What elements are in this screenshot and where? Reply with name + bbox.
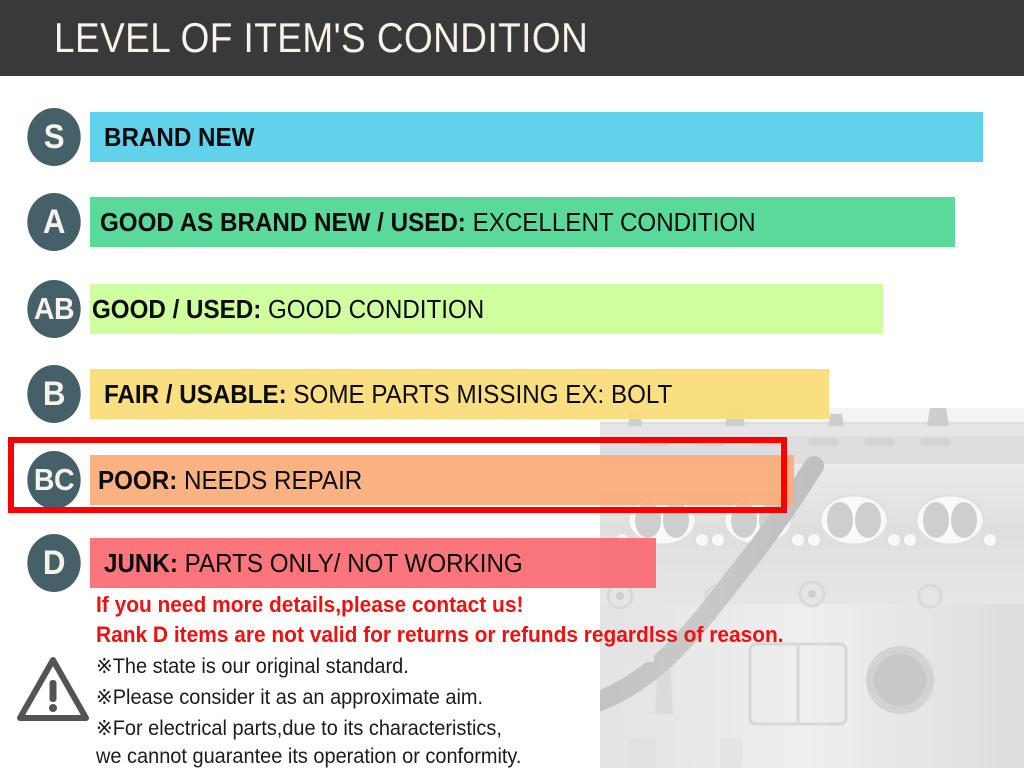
bc-rank-highlight-box — [8, 437, 787, 513]
footer-note-2: ※Please consider it as an approximate ai… — [96, 685, 483, 710]
condition-label-detail: EXCELLENT CONDITION — [466, 207, 756, 237]
condition-level-infographic: LEVEL OF ITEM'S CONDITION SBRAND NEWAGOO… — [0, 0, 1024, 768]
rank-badge-b: B — [27, 365, 80, 423]
rank-badge-ab: AB — [27, 280, 80, 338]
condition-label-detail: GOOD CONDITION — [261, 294, 484, 324]
condition-label-ab: GOOD / USED: GOOD CONDITION — [92, 293, 484, 325]
condition-label-detail: PARTS ONLY/ NOT WORKING — [178, 548, 523, 578]
condition-label-bold: BRAND NEW — [104, 122, 254, 152]
footer-note-3: ※For electrical parts,due to its charact… — [96, 716, 502, 741]
page-title: LEVEL OF ITEM'S CONDITION — [54, 14, 588, 62]
condition-label-bold: FAIR / USABLE: — [104, 379, 287, 409]
condition-label-detail: SOME PARTS MISSING EX: BOLT — [287, 379, 673, 409]
rank-badge-s: S — [27, 108, 80, 166]
condition-label-d: JUNK: PARTS ONLY/ NOT WORKING — [104, 547, 523, 579]
header-bar: LEVEL OF ITEM'S CONDITION — [0, 0, 1024, 76]
footer-warning-line-1: If you need more details,please contact … — [96, 592, 523, 618]
condition-label-a: GOOD AS BRAND NEW / USED: EXCELLENT COND… — [100, 206, 756, 238]
rank-badge-a: A — [27, 193, 80, 251]
footer-note-4: we cannot guarantee its operation or con… — [96, 744, 521, 768]
rank-badge-d: D — [27, 534, 80, 592]
condition-label-bold: GOOD AS BRAND NEW / USED: — [100, 207, 466, 237]
condition-label-s: BRAND NEW — [104, 121, 254, 153]
footer-warning-line-2: Rank D items are not valid for returns o… — [96, 622, 784, 648]
footer-note-1: ※The state is our original standard. — [96, 654, 409, 679]
warning-triangle-icon — [16, 654, 90, 724]
condition-label-b: FAIR / USABLE: SOME PARTS MISSING EX: BO… — [104, 378, 672, 410]
condition-label-bold: GOOD / USED: — [92, 294, 261, 324]
condition-label-bold: JUNK: — [104, 548, 178, 578]
